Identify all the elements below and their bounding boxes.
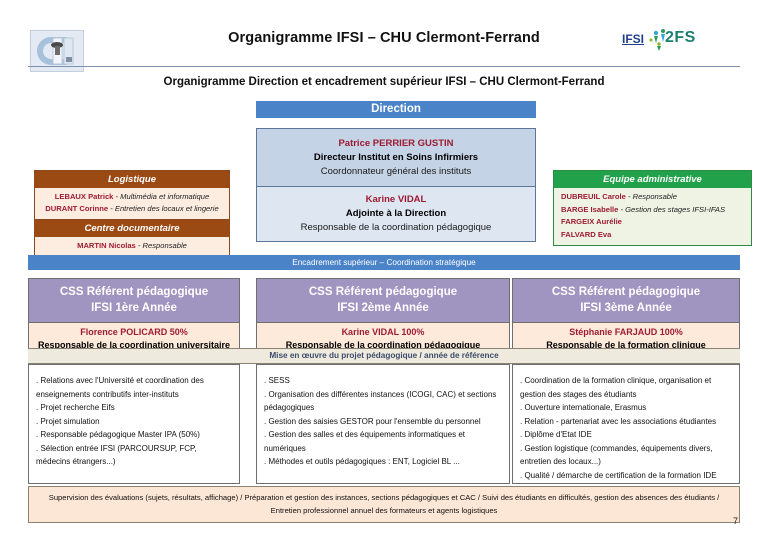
column-2-heading-line1: CSS Référent pédagogique bbox=[259, 284, 507, 300]
member-desc: - Gestion des stages IFSI-IFAS bbox=[618, 205, 725, 214]
list-item: . Projet recherche Eifs bbox=[36, 401, 232, 415]
logistique-block: Logistique LEBAUX Patrick - Multimédia e… bbox=[34, 170, 230, 220]
director-name: Patrice PERRIER GUSTIN bbox=[263, 138, 529, 149]
column-3-lead: Stéphanie FARJAUD 100% bbox=[515, 326, 737, 339]
column-header-2: CSS Référent pédagogique IFSI 2ème Année… bbox=[256, 278, 510, 358]
list-item: . Gestion des salles et des équipements … bbox=[264, 428, 502, 455]
centre-documentaire-heading: Centre documentaire bbox=[35, 220, 229, 237]
column-2-heading: CSS Référent pédagogique IFSI 2ème Année bbox=[257, 279, 509, 323]
list-item: MARTIN Nicolas - Responsable bbox=[35, 240, 229, 252]
director-title: Directeur Institut en Soins Infirmiers bbox=[263, 152, 529, 163]
list-item: . Diplôme d'Etat IDE bbox=[520, 428, 732, 442]
list-item: . Coordination de la formation clinique,… bbox=[520, 374, 732, 401]
header-divider bbox=[28, 66, 740, 67]
logistique-members: LEBAUX Patrick - Multimédia et informati… bbox=[35, 188, 229, 219]
member-desc: - Entretien des locaux et lingerie bbox=[108, 204, 219, 213]
equipe-administrative-block: Equipe administrative DUBREUIL Carole - … bbox=[553, 170, 752, 246]
deputy-name: Karine VIDAL bbox=[263, 194, 529, 205]
list-item: . Gestion des saisies GESTOR pour l'ense… bbox=[264, 415, 502, 429]
cfs-people-icon: 2FS bbox=[648, 26, 710, 52]
member-desc: - Responsable bbox=[626, 192, 677, 201]
member-desc: - Multimédia et informatique bbox=[113, 192, 209, 201]
column-3-heading-line1: CSS Référent pédagogique bbox=[515, 284, 737, 300]
logistique-heading: Logistique bbox=[35, 171, 229, 188]
list-item: LEBAUX Patrick - Multimédia et informati… bbox=[35, 191, 229, 203]
centre-documentaire-members: MARTIN Nicolas - Responsable bbox=[35, 237, 229, 256]
column-3-heading: CSS Référent pédagogique IFSI 3ème Année bbox=[513, 279, 739, 323]
column-header-1: CSS Référent pédagogique IFSI 1ère Année… bbox=[28, 278, 240, 358]
list-item: FALVARD Eva bbox=[561, 229, 751, 242]
member-name: FARGEIX Aurélie bbox=[561, 217, 622, 226]
direction-heading: Direction bbox=[256, 101, 536, 118]
list-item: . Méthodes et outils pédagogiques : ENT,… bbox=[264, 455, 502, 469]
member-name: MARTIN Nicolas bbox=[77, 241, 136, 250]
member-name: BARGE Isabelle bbox=[561, 205, 618, 214]
member-name: DUBREUIL Carole bbox=[561, 192, 626, 201]
list-item: . Gestion logistique (commandes, équipem… bbox=[520, 442, 732, 469]
page-number: 7 bbox=[733, 516, 738, 526]
list-item: DURANT Corinne - Entretien des locaux et… bbox=[35, 203, 229, 215]
deputy-role: Responsable de la coordination pédagogiq… bbox=[263, 222, 529, 233]
column-3-body: . Coordination de la formation clinique,… bbox=[512, 364, 740, 484]
deputy-card: Karine VIDAL Adjointe à la Direction Res… bbox=[257, 187, 535, 241]
list-item: . Relation - partenariat avec les associ… bbox=[520, 415, 732, 429]
list-item: BARGE Isabelle - Gestion des stages IFSI… bbox=[561, 204, 751, 217]
director-card: Patrice PERRIER GUSTIN Directeur Institu… bbox=[257, 129, 535, 187]
direction-box: Patrice PERRIER GUSTIN Directeur Institu… bbox=[256, 128, 536, 242]
director-role: Coordonnateur général des instituts bbox=[263, 166, 529, 177]
centre-documentaire-block: Centre documentaire MARTIN Nicolas - Res… bbox=[34, 219, 230, 257]
brand-ifsi-link[interactable]: IFSI bbox=[622, 32, 644, 46]
list-item: . Sélection entrée IFSI (PARCOURSUP, FCP… bbox=[36, 442, 232, 469]
mise-en-oeuvre-bar: Mise en œuvre du projet pédagogique / an… bbox=[28, 348, 740, 364]
list-item: . Organisation des différentes instances… bbox=[264, 388, 502, 415]
list-item: . Relations avec l'Université et coordin… bbox=[36, 374, 232, 401]
column-2-lead: Karine VIDAL 100% bbox=[259, 326, 507, 339]
page-subtitle: Organigramme Direction et encadrement su… bbox=[0, 76, 768, 88]
deputy-title: Adjointe à la Direction bbox=[263, 208, 529, 219]
column-3-heading-line2: IFSI 3ème Année bbox=[515, 300, 737, 316]
column-1-lead: Florence POLICARD 50% bbox=[31, 326, 237, 339]
member-name: DURANT Corinne bbox=[45, 204, 108, 213]
list-item: . Responsable pédagogique Master IPA (50… bbox=[36, 428, 232, 442]
equipe-administrative-heading: Equipe administrative bbox=[554, 171, 751, 188]
equipe-administrative-members: DUBREUIL Carole - Responsable BARGE Isab… bbox=[554, 188, 751, 245]
member-name: LEBAUX Patrick bbox=[55, 192, 114, 201]
column-header-3: CSS Référent pédagogique IFSI 3ème Année… bbox=[512, 278, 740, 358]
supervision-bar: Supervision des évaluations (sujets, rés… bbox=[28, 486, 740, 523]
member-desc: - Responsable bbox=[136, 241, 187, 250]
column-1-heading: CSS Référent pédagogique IFSI 1ère Année bbox=[29, 279, 239, 323]
column-1-body: . Relations avec l'Université et coordin… bbox=[28, 364, 240, 484]
list-item: . Ouverture internationale, Erasmus bbox=[520, 401, 732, 415]
list-item: . SESS bbox=[264, 374, 502, 388]
list-item: . Projet simulation bbox=[36, 415, 232, 429]
strategic-bar: Encadrement supérieur – Coordination str… bbox=[28, 255, 740, 270]
page-header: Organigramme IFSI – CHU Clermont-Ferrand… bbox=[0, 0, 768, 56]
list-item: . Qualité / démarche de certification de… bbox=[520, 469, 732, 483]
column-2-body: . SESS . Organisation des différentes in… bbox=[256, 364, 510, 484]
column-2-heading-line2: IFSI 2ème Année bbox=[259, 300, 507, 316]
column-1-heading-line2: IFSI 1ère Année bbox=[31, 300, 237, 316]
column-1-heading-line1: CSS Référent pédagogique bbox=[31, 284, 237, 300]
list-item: DUBREUIL Carole - Responsable bbox=[561, 191, 751, 204]
list-item: FARGEIX Aurélie bbox=[561, 216, 751, 229]
brand-cfs-label: 2FS bbox=[665, 29, 696, 47]
member-name: FALVARD Eva bbox=[561, 230, 611, 239]
